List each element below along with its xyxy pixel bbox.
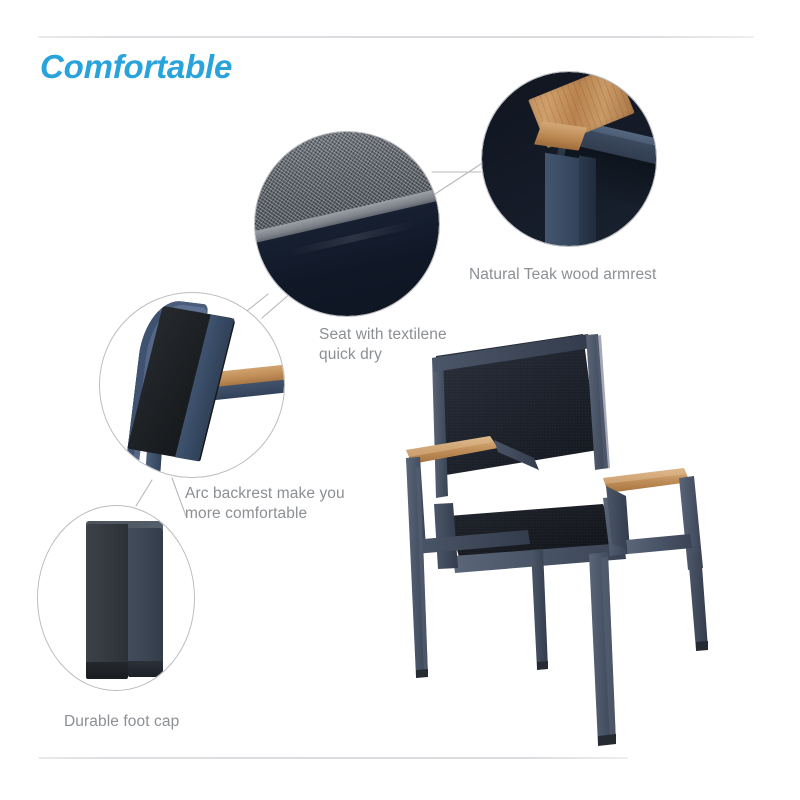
callout-circle-backrest bbox=[99, 292, 285, 478]
chair-leg-rear-right bbox=[688, 552, 708, 650]
callout-label-armrest: Natural Teak wood armrest bbox=[469, 265, 656, 285]
chair-seat-left-rail bbox=[434, 503, 458, 569]
callout-circle-armrest bbox=[481, 71, 657, 247]
chair-foot-cap-2 bbox=[537, 661, 548, 670]
divider-top bbox=[38, 36, 754, 38]
callout-circle-seat bbox=[254, 131, 440, 317]
chair-foot-cap-1 bbox=[416, 669, 428, 678]
chair-foot-cap-3 bbox=[598, 734, 616, 746]
callout-label-backrest: Arc backrest make you more comfortable bbox=[185, 484, 345, 524]
arc-backrest-detail-icon bbox=[100, 293, 284, 477]
product-chair-image bbox=[398, 318, 744, 758]
page-title: Comfortable bbox=[40, 48, 232, 86]
chair-leg-front-right bbox=[531, 549, 548, 669]
infographic-canvas: Comfortable bbox=[0, 0, 800, 800]
seat-textilene-detail-icon bbox=[255, 132, 439, 316]
chair-foot-cap-4 bbox=[696, 641, 708, 651]
leader-footcap bbox=[136, 480, 152, 506]
teak-armrest-detail-icon bbox=[482, 72, 656, 246]
callout-label-footcap: Durable foot cap bbox=[64, 712, 179, 732]
leader-seat-to-armrest bbox=[432, 160, 487, 196]
foot-cap-detail-icon bbox=[38, 506, 194, 690]
callout-circle-footcap bbox=[37, 505, 195, 691]
chair-right-seat-rail bbox=[626, 534, 692, 554]
